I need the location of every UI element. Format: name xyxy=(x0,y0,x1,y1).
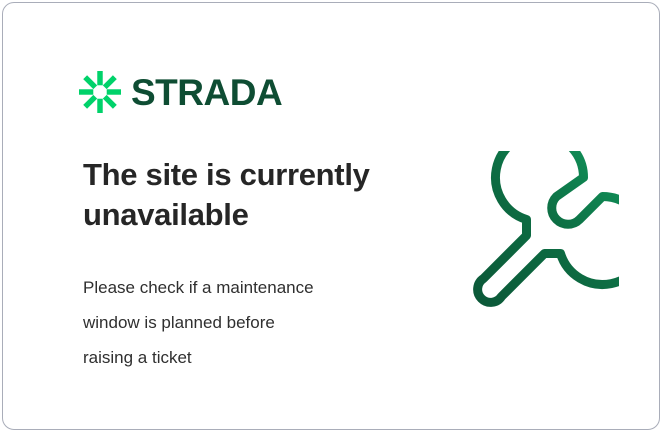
description-line: Please check if a maintenance xyxy=(83,271,383,306)
status-page-card: STRADA The site is currently unavailable… xyxy=(2,2,660,430)
wrench-icon xyxy=(455,151,619,315)
description-line: raising a ticket xyxy=(83,341,383,376)
page-title: The site is currently unavailable xyxy=(83,155,413,234)
page-description: Please check if a maintenance window is … xyxy=(83,271,383,376)
description-line: window is planned before xyxy=(83,306,383,341)
wrench-illustration xyxy=(455,151,619,315)
strada-asterisk-icon xyxy=(79,71,121,113)
brand-lockup: STRADA xyxy=(79,71,282,113)
brand-wordmark: STRADA xyxy=(131,74,282,111)
